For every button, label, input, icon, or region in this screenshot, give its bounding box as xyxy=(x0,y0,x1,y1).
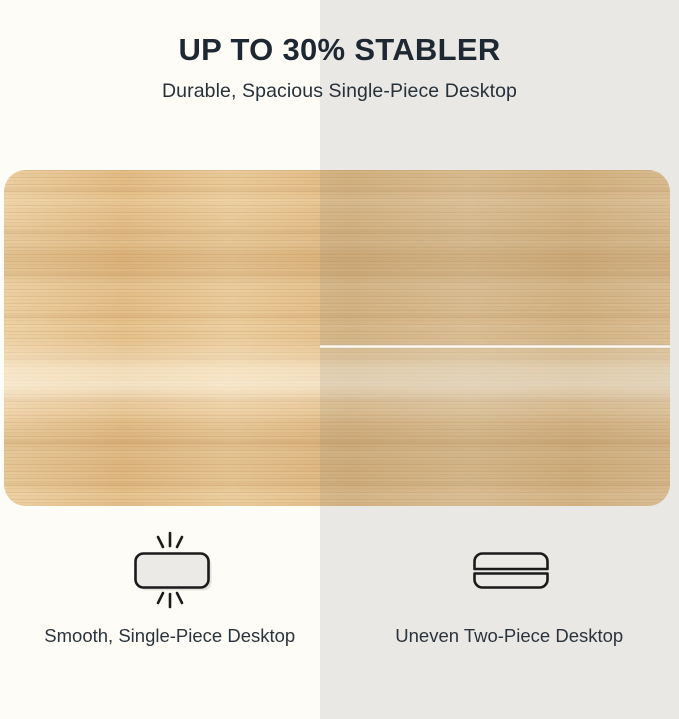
desktop-seam-line xyxy=(320,344,670,349)
wood-desktop-comparison-image xyxy=(4,170,670,506)
comparison-caption: Smooth, Single-Piece Desktop xyxy=(44,613,295,650)
two-piece-desktop-icon xyxy=(457,527,561,613)
header: UP TO 30% STABLER Durable, Spacious Sing… xyxy=(0,0,679,103)
comparison-column-two-piece: Uneven Two-Piece Desktop xyxy=(340,506,679,719)
single-piece-desktop-icon xyxy=(118,527,222,613)
right-half-tint-overlay xyxy=(320,170,670,506)
page-title: UP TO 30% STABLER xyxy=(0,33,679,68)
comparison-caption: Uneven Two-Piece Desktop xyxy=(395,613,623,650)
product-comparison-poster: UP TO 30% STABLER Durable, Spacious Sing… xyxy=(0,0,679,719)
comparison-column-single-piece: Smooth, Single-Piece Desktop xyxy=(0,506,340,719)
comparison-columns: Smooth, Single-Piece Desktop Uneven Two-… xyxy=(0,506,679,719)
page-subtitle: Durable, Spacious Single-Piece Desktop xyxy=(0,68,679,103)
